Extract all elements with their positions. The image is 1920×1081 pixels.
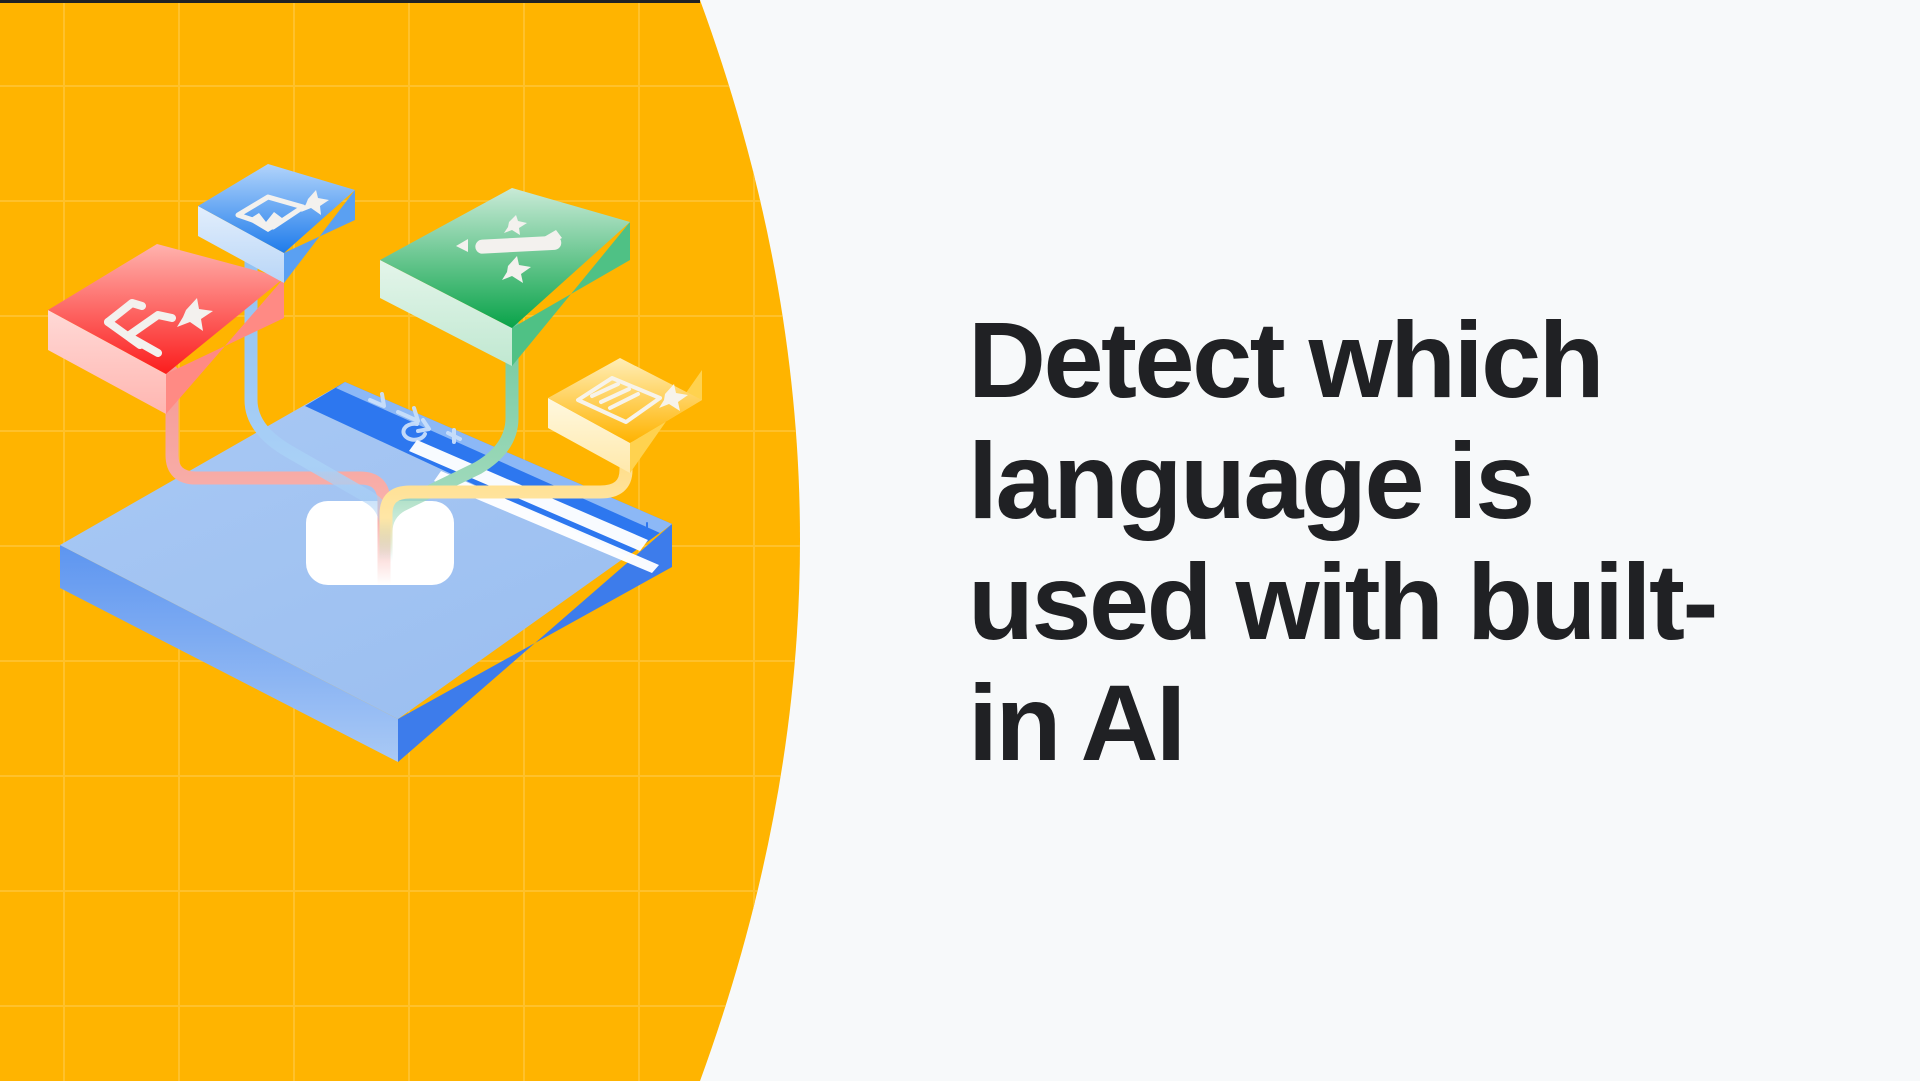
headline-block: Detect which language is used with built… (968, 300, 1788, 784)
tile-summarizer[interactable] (548, 358, 702, 473)
tile-writer[interactable] (380, 188, 630, 366)
screenshot-root: Detect which language is used with built… (0, 0, 1920, 1081)
top-hairline-rule (0, 0, 700, 3)
page-title: Detect which language is used with built… (968, 300, 1788, 784)
isometric-illustration (0, 0, 810, 1081)
